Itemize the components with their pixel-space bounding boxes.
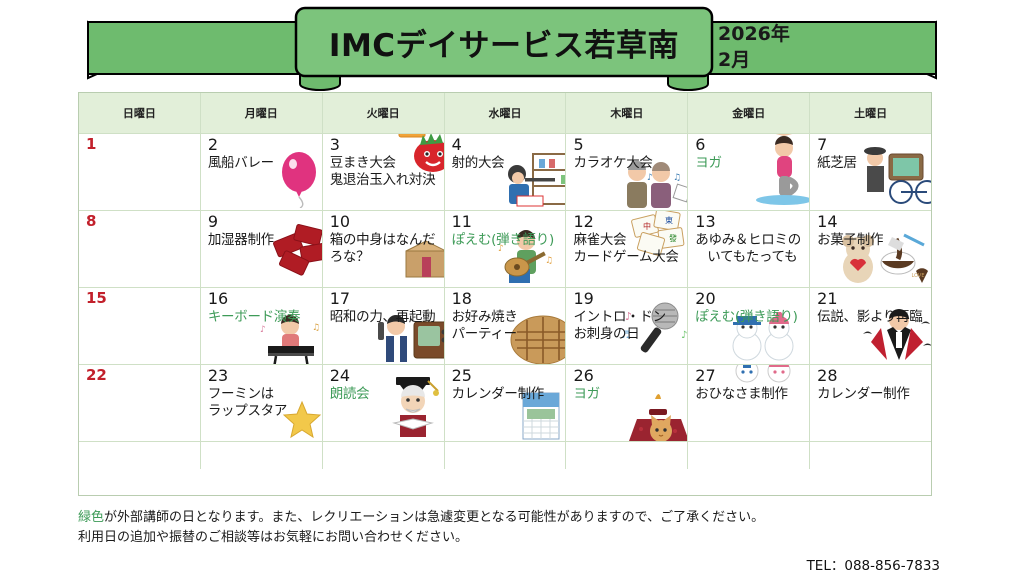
event-label: ヨガ (695, 155, 804, 172)
contact-phone: TEL：088-856-7833 (78, 554, 958, 574)
calendar-day-cell-1[interactable]: 1 (79, 134, 201, 210)
calendar-day-cell-2[interactable]: 2風船バレー (201, 134, 323, 210)
calendar-week-row: 15♪♫16キーボード演奏17昭和の力、再起動18お好み焼きパーティー♪♬♪19… (79, 287, 931, 364)
event-label: 豆まき大会 (330, 155, 439, 172)
day-number: 7 (817, 137, 926, 154)
day-number: 14 (817, 214, 926, 231)
day-events: カレンダー制作 (817, 386, 926, 403)
event-label: ろな？ (330, 249, 439, 266)
day-number: 24 (330, 368, 439, 385)
footer-note-line-2: 利用日の追加や振替のご相談等はお気軽にお問い合わせください。 (78, 528, 958, 548)
day-number: 20 (695, 291, 804, 308)
event-label: あゆみ＆ヒロミの (695, 232, 804, 249)
calendar-day-cell-23[interactable]: 23フーミンはラップスタア (201, 365, 323, 441)
header-banner: IMCデイサービス若草南 2026年 2月 (0, 0, 1024, 92)
calendar-day-cell-3[interactable]: 福3豆まき大会鬼退治玉入れ対決 (323, 134, 445, 210)
day-number: 2 (208, 137, 317, 154)
day-number: 11 (452, 214, 561, 231)
calendar-day-cell-27[interactable]: 27おひなさま制作 (688, 365, 810, 441)
calendar-day-cell-4[interactable]: 4射的大会 (445, 134, 567, 210)
day-number: 9 (208, 214, 317, 231)
event-label: お菓子制作 (817, 232, 926, 249)
calendar-empty-cell (323, 442, 445, 469)
calendar-period: 2026年 2月 (718, 22, 828, 73)
svg-text:LOVE: LOVE (911, 273, 924, 279)
event-label: 箱の中身はなんだ (330, 232, 439, 249)
calendar-week-row: 89加湿器制作10箱の中身はなんだろな？♪♫11ぽえむ(弾き語り)中發東12麻雀… (79, 210, 931, 287)
day-events: 朗読会 (330, 386, 439, 403)
event-label: カードゲーム大会 (573, 249, 682, 266)
calendar-grid: 日曜日月曜日火曜日水曜日木曜日金曜日土曜日 12風船バレー福3豆まき大会鬼退治玉… (78, 92, 932, 496)
day-events: フーミンはラップスタア (208, 386, 317, 421)
weekday-header-5: 金曜日 (688, 93, 810, 133)
svg-text:♫: ♫ (673, 173, 681, 183)
calendar-day-cell-16[interactable]: ♪♫16キーボード演奏 (201, 288, 323, 364)
day-events: 昭和の力、再起動 (330, 309, 439, 326)
calendar-empty-cell (79, 442, 201, 469)
calendar-day-cell-22[interactable]: 22 (79, 365, 201, 441)
calendar-empty-cell (445, 442, 567, 469)
calendar-week-row: 12風船バレー福3豆まき大会鬼退治玉入れ対決4射的大会♪♫5カラオケ大会6ヨガ7… (79, 133, 931, 210)
calendar-day-cell-15[interactable]: 15 (79, 288, 201, 364)
svg-text:♪: ♪ (647, 173, 653, 183)
event-label: フーミンは (208, 386, 317, 403)
event-label: 昭和の力、再起動 (330, 309, 439, 326)
event-label: ラップスタア (208, 403, 317, 420)
event-label: 朗読会 (330, 386, 439, 403)
day-number: 28 (817, 368, 926, 385)
day-events: 麻雀大会カードゲーム大会 (573, 232, 682, 267)
calendar-day-cell-12[interactable]: 中發東12麻雀大会カードゲーム大会 (566, 211, 688, 287)
weekday-header-3: 水曜日 (445, 93, 567, 133)
day-number: 22 (86, 368, 195, 384)
day-events: 伝説、影より再臨 (817, 309, 926, 326)
svg-text:♪: ♪ (260, 325, 266, 335)
calendar-day-cell-13[interactable]: 13あゆみ＆ヒロミのいてもたっても (688, 211, 810, 287)
day-number: 4 (452, 137, 561, 154)
calendar-day-cell-7[interactable]: 7紙芝居 (810, 134, 931, 210)
day-number: 5 (573, 137, 682, 154)
calendar-day-cell-25[interactable]: 25カレンダー制作 (445, 365, 567, 441)
day-number: 8 (86, 214, 195, 230)
day-number: 3 (330, 137, 439, 154)
event-label: ぽえむ(弾き語り) (695, 309, 804, 326)
event-label: 麻雀大会 (573, 232, 682, 249)
day-number: 23 (208, 368, 317, 385)
weekday-header-1: 月曜日 (201, 93, 323, 133)
calendar-empty-row (79, 441, 931, 469)
svg-text:♫: ♫ (545, 256, 553, 266)
day-events: お好み焼きパーティー (452, 309, 561, 344)
calendar-day-cell-19[interactable]: ♪♬♪19イントロ・ドンお刺身の日 (566, 288, 688, 364)
footer-note-text: が外部講師の日となります。また、レクリエーションは急遽変更となる可能性があります… (104, 510, 764, 525)
day-number: 13 (695, 214, 804, 231)
event-label: 射的大会 (452, 155, 561, 172)
day-events: カレンダー制作 (452, 386, 561, 403)
day-number: 26 (573, 368, 682, 385)
event-label: パーティー (452, 326, 561, 343)
day-number: 15 (86, 291, 195, 307)
event-label: カレンダー制作 (817, 386, 926, 403)
calendar-day-cell-21[interactable]: 21伝説、影より再臨 (810, 288, 931, 364)
calendar-body: 12風船バレー福3豆まき大会鬼退治玉入れ対決4射的大会♪♫5カラオケ大会6ヨガ7… (79, 133, 931, 441)
calendar-page: IMCデイサービス若草南 2026年 2月 日曜日月曜日火曜日水曜日木曜日金曜日… (0, 0, 1024, 576)
day-events: ぽえむ(弾き語り) (452, 232, 561, 249)
calendar-day-cell-24[interactable]: 24朗読会 (323, 365, 445, 441)
day-events: 紙芝居 (817, 155, 926, 172)
event-label: 紙芝居 (817, 155, 926, 172)
event-label: カラオケ大会 (573, 155, 682, 172)
day-number: 6 (695, 137, 804, 154)
day-number: 16 (208, 291, 317, 308)
calendar-empty-cell (810, 442, 931, 469)
day-events: 風船バレー (208, 155, 317, 172)
day-events: 豆まき大会鬼退治玉入れ対決 (330, 155, 439, 190)
calendar-month: 2月 (718, 48, 828, 74)
calendar-empty-cell (566, 442, 688, 469)
weekday-header-4: 木曜日 (566, 93, 688, 133)
day-events: キーボード演奏 (208, 309, 317, 326)
calendar-day-cell-17[interactable]: 17昭和の力、再起動 (323, 288, 445, 364)
day-number: 25 (452, 368, 561, 385)
event-label: キーボード演奏 (208, 309, 317, 326)
event-label: イントロ・ドン (573, 309, 682, 326)
event-label: 加湿器制作 (208, 232, 317, 249)
day-number: 19 (573, 291, 682, 308)
day-number: 10 (330, 214, 439, 231)
calendar-day-cell-18[interactable]: 18お好み焼きパーティー (445, 288, 567, 364)
footer-green-keyword: 緑色 (78, 510, 104, 525)
calendar-day-cell-28[interactable]: 28カレンダー制作 (810, 365, 931, 441)
calendar-day-cell-5[interactable]: ♪♫5カラオケ大会 (566, 134, 688, 210)
event-label: ぽえむ(弾き語り) (452, 232, 561, 249)
event-label: いてもたっても (695, 249, 804, 266)
event-label: おひなさま制作 (695, 386, 804, 403)
day-number: 17 (330, 291, 439, 308)
footer-notes: 緑色が外部講師の日となります。また、レクリエーションは急遽変更となる可能性があり… (78, 508, 958, 574)
svg-text:福: 福 (407, 134, 417, 136)
day-events: 射的大会 (452, 155, 561, 172)
day-events: ヨガ (695, 155, 804, 172)
day-events: 箱の中身はなんだろな？ (330, 232, 439, 267)
day-number: 12 (573, 214, 682, 231)
day-events: あゆみ＆ヒロミのいてもたっても (695, 232, 804, 267)
calendar-day-cell-6[interactable]: 6ヨガ (688, 134, 810, 210)
day-number: 27 (695, 368, 804, 385)
day-events: 加湿器制作 (208, 232, 317, 249)
weekday-header-6: 土曜日 (810, 93, 931, 133)
calendar-year: 2026年 (718, 22, 828, 48)
event-label: お好み焼き (452, 309, 561, 326)
footer-note-line-1: 緑色が外部講師の日となります。また、レクリエーションは急遽変更となる可能性があり… (78, 508, 958, 528)
event-label: 伝説、影より再臨 (817, 309, 926, 326)
day-events: お菓子制作 (817, 232, 926, 249)
event-label: 鬼退治玉入れ対決 (330, 172, 439, 189)
page-title: IMCデイサービス若草南 (300, 18, 708, 66)
calendar-day-cell-14[interactable]: LOVE14お菓子制作 (810, 211, 931, 287)
event-label: カレンダー制作 (452, 386, 561, 403)
calendar-day-cell-26[interactable]: 26ヨガ (566, 365, 688, 441)
event-label: 風船バレー (208, 155, 317, 172)
day-events: イントロ・ドンお刺身の日 (573, 309, 682, 344)
weekday-header-0: 日曜日 (79, 93, 201, 133)
calendar-day-cell-20[interactable]: 20ぽえむ(弾き語り) (688, 288, 810, 364)
calendar-day-cell-8[interactable]: 8 (79, 211, 201, 287)
weekday-header-2: 火曜日 (323, 93, 445, 133)
event-label: ヨガ (573, 386, 682, 403)
day-events: おひなさま制作 (695, 386, 804, 403)
day-events: ヨガ (573, 386, 682, 403)
weekday-header-row: 日曜日月曜日火曜日水曜日木曜日金曜日土曜日 (79, 93, 931, 133)
calendar-day-cell-10[interactable]: 10箱の中身はなんだろな？ (323, 211, 445, 287)
day-number: 18 (452, 291, 561, 308)
calendar-day-cell-11[interactable]: ♪♫11ぽえむ(弾き語り) (445, 211, 567, 287)
day-events: カラオケ大会 (573, 155, 682, 172)
calendar-empty-cell (688, 442, 810, 469)
calendar-day-cell-9[interactable]: 9加湿器制作 (201, 211, 323, 287)
day-events: ぽえむ(弾き語り) (695, 309, 804, 326)
day-number: 21 (817, 291, 926, 308)
event-label: お刺身の日 (573, 326, 682, 343)
calendar-week-row: 2223フーミンはラップスタア24朗読会25カレンダー制作26ヨガ27おひなさま… (79, 364, 931, 441)
calendar-empty-cell (201, 442, 323, 469)
day-number: 1 (86, 137, 195, 153)
